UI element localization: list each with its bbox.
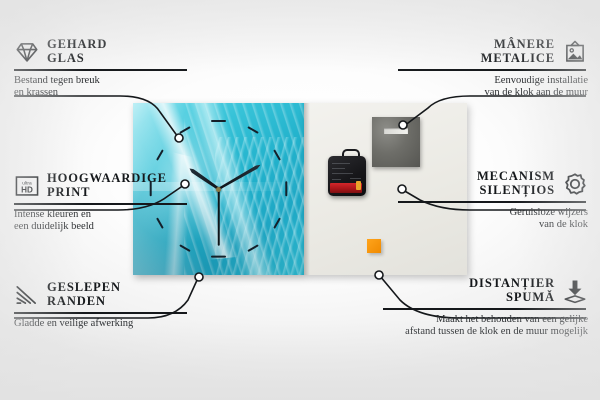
callout-rule bbox=[14, 203, 187, 205]
callout-rule bbox=[398, 201, 586, 203]
callout-geslepen-randen: GESLEPEN RANDEN Gladde en veilige afwerk… bbox=[14, 281, 189, 330]
callout-subtitle: Intense kleuren en een duidelijk beeld bbox=[14, 209, 189, 234]
diagonal-lines-icon bbox=[14, 282, 40, 308]
clock-tick bbox=[179, 126, 190, 134]
clock-hour-hand bbox=[188, 167, 220, 191]
callout-rule bbox=[14, 69, 187, 71]
clock-tick bbox=[247, 244, 258, 252]
panel-edge-shadow bbox=[304, 103, 310, 275]
clock-tick bbox=[286, 181, 288, 196]
callout-title: MÂNERE METALICE bbox=[481, 38, 555, 65]
clock-minute-hand bbox=[218, 163, 261, 190]
callout-subtitle: Bestand tegen breuk en krassen bbox=[14, 75, 189, 100]
callout-title: GESLEPEN RANDEN bbox=[47, 281, 121, 308]
callout-mecanism-silentios: MECANISM SILENȚIOS Geruisloze wijzers va… bbox=[398, 170, 588, 231]
clock-tick bbox=[247, 126, 258, 134]
hanger-slot bbox=[384, 128, 408, 134]
clock-tick bbox=[179, 244, 190, 252]
callout-gehard-glas: GEHARD GLAS Bestand tegen breuk en krass… bbox=[14, 38, 189, 99]
ultra-hd-icon: ultra HD bbox=[14, 173, 40, 199]
down-arrow-layer-icon bbox=[562, 278, 588, 304]
callout-rule bbox=[383, 308, 586, 310]
clock-battery bbox=[330, 183, 362, 193]
callout-title: HOOGWAARDIGE PRINT bbox=[47, 172, 167, 199]
clock-tick bbox=[273, 149, 281, 160]
clock-tick bbox=[156, 149, 164, 160]
battery-plus-terminal bbox=[356, 181, 361, 190]
clock-tick bbox=[211, 120, 226, 122]
diamond-icon bbox=[14, 39, 40, 65]
gear-icon bbox=[562, 171, 588, 197]
callout-distantier-spuma: DISTANȚIER SPUMĂ Maakt het behouden van … bbox=[383, 277, 588, 338]
wall-hanging-icon bbox=[562, 39, 588, 65]
svg-text:HD: HD bbox=[21, 185, 33, 194]
callout-title: MECANISM SILENȚIOS bbox=[477, 170, 555, 197]
callout-title: GEHARD GLAS bbox=[47, 38, 107, 65]
callout-rule bbox=[14, 312, 187, 314]
clock-tick bbox=[273, 217, 281, 228]
callout-hoogwaardige-print: ultra HD HOOGWAARDIGE PRINT Intense kleu… bbox=[14, 172, 189, 233]
callout-subtitle: Geruisloze wijzers van de klok bbox=[398, 207, 588, 232]
callout-rule bbox=[398, 69, 586, 71]
foam-spacer bbox=[367, 239, 381, 253]
clock-second-hand bbox=[218, 189, 220, 246]
infographic-canvas: GEHARD GLAS Bestand tegen breuk en krass… bbox=[0, 0, 600, 400]
clock-center-cap bbox=[216, 187, 221, 192]
callout-subtitle: Maakt het behouden van een gelijke afsta… bbox=[383, 314, 588, 339]
callout-title: DISTANȚIER SPUMĂ bbox=[469, 277, 555, 304]
metal-hanger-plate bbox=[372, 117, 420, 167]
clock-tick bbox=[211, 256, 226, 258]
callout-manere-metalice: MÂNERE METALICE Eenvoudige installatie v… bbox=[398, 38, 588, 99]
callout-subtitle: Gladde en veilige afwerking bbox=[14, 318, 189, 330]
clock-mechanism bbox=[328, 156, 366, 196]
callout-subtitle: Eenvoudige installatie van de klok aan d… bbox=[398, 75, 588, 100]
